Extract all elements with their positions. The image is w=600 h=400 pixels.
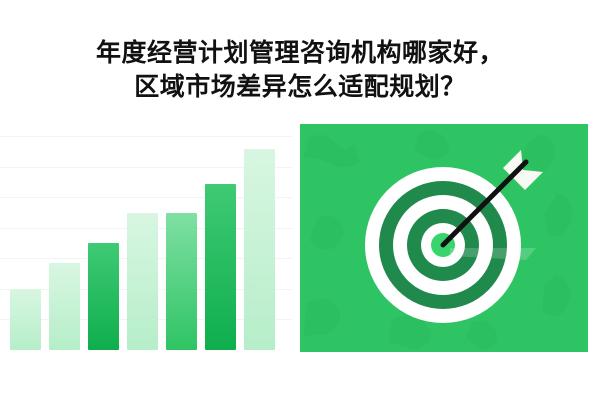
chart-bar[interactable] <box>244 149 275 350</box>
bar-chart <box>0 132 292 350</box>
chart-bar[interactable] <box>127 213 158 350</box>
chart-bar[interactable] <box>10 289 41 350</box>
chart-bar[interactable] <box>49 263 80 350</box>
chart-bar[interactable] <box>88 243 119 350</box>
page-title: 年度经营计划管理咨询机构哪家好， 区域市场差异怎么适配规划？ <box>0 36 600 104</box>
page-title-line-1: 年度经营计划管理咨询机构哪家好， <box>0 36 600 70</box>
poster-canvas: 年度经营计划管理咨询机构哪家好， 区域市场差异怎么适配规划？ <box>0 0 600 400</box>
arrow-fletching-icon <box>503 150 543 190</box>
page-title-line-2: 区域市场差异怎么适配规划？ <box>0 70 600 104</box>
chart-bars <box>0 132 292 350</box>
bullseye-target-icon <box>300 124 588 352</box>
chart-bar[interactable] <box>166 213 197 350</box>
target-illustration-panel <box>300 124 588 352</box>
chart-bar[interactable] <box>205 184 236 350</box>
